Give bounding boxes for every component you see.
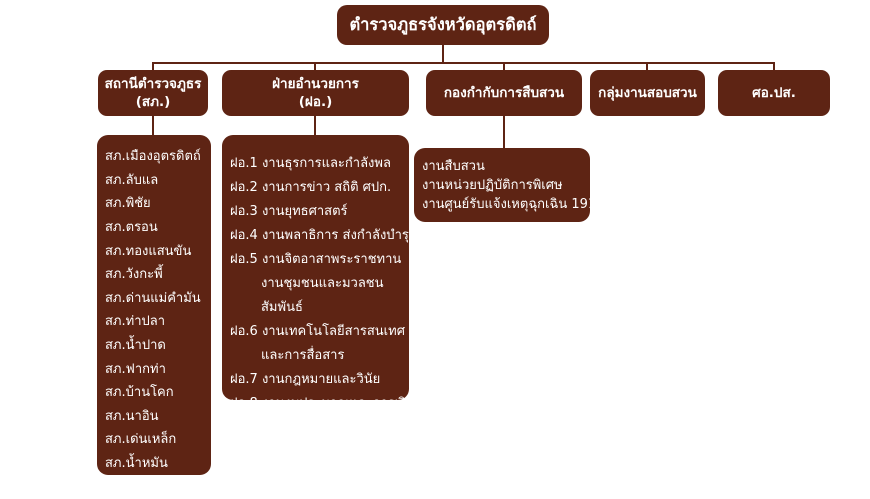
org-chart: ตำรวจภูธรจังหวัดอุตรดิตถ์ สถานีตำรวจภูธร… [0,0,870,489]
fao-work-label: งานชุมชนและมวลชน [261,277,384,290]
panel-administration-works-list: ฝอ.1 งานธุรการและกำลังพล ฝอ.2 งานการข่าว… [222,135,409,400]
station-label: สภ.ท่าปลา [105,315,165,328]
node-administration-division[interactable]: ฝ่ายอำนวยการ (ฝอ.) [222,70,409,116]
list-item[interactable]: สภ.พญาแมน [105,475,211,499]
station-label: สภ.บ้านโคก [105,386,174,399]
list-item[interactable]: สภ.ท่าปลา [105,310,211,334]
fao-work-label: ฝอ.7 งานกฎหมายและวินัย [230,373,380,386]
connector-sapho-to-stations [152,116,154,136]
list-item[interactable]: สภ.เด่นเหล็ก [105,428,211,452]
fao-work-label: ฝอ.2 งานการข่าว สถิติ ศปก. [230,181,391,194]
list-item[interactable]: สภ.ด่านแม่คำมัน [105,287,211,311]
list-item[interactable]: สภ.น้ำปาด [105,334,211,358]
list-item[interactable]: ฝอ.7 งานกฎหมายและวินัย [230,367,409,391]
fao-work-label: ฝอ.8 งานงบประมาณและการเงิน [230,397,414,410]
station-label: สภ.ลับแล [105,174,158,187]
node-root-organization[interactable]: ตำรวจภูธรจังหวัดอุตรดิตถ์ [337,5,549,45]
list-item[interactable]: ฝอ.2 งานการข่าว สถิติ ศปก. [230,175,409,199]
investigation-work-label: งานสืบสวน [422,160,485,173]
station-label: สภ.น้ำปาด [105,339,166,352]
node-sapho-label-line2: (สภ.) [136,94,171,111]
list-item-continuation: สัมพันธ์ [230,295,409,319]
list-item[interactable]: สภ.พิชัย [105,192,211,216]
fao-work-label: ฝอ.1 งานธุรการและกำลังพล [230,157,391,170]
station-label: สภ.ฟากท่า [105,363,166,376]
station-label: สภ.พิชัย [105,197,151,210]
connector-investigation-to-works [503,116,505,149]
list-item[interactable]: ฝอ.8 งานงบประมาณและการเงิน [230,391,409,415]
node-fao-label-line2: (ฝอ.) [299,94,333,111]
node-sapho-label-line1: สถานีตำรวจภูธร [105,76,202,93]
node-narcotics-center[interactable]: ศอ.ปส. [718,70,830,116]
station-label: สภ.วังกะพี้ [105,268,163,281]
station-label: สภ.เด่นเหล็ก [105,433,176,446]
fao-work-label: ฝอ.6 งานเทคโนโลยีสารสนเทศ [230,325,405,338]
list-item[interactable]: ฝอ.5 งานจิตอาสาพระราชทาน [230,247,409,271]
fao-work-label: ฝอ.4 งานพลาธิการ ส่งกำลังบำรุง [230,229,415,242]
node-inquiry-label: กลุ่มงานสอบสวน [598,85,697,102]
station-label: สภ.ทองแสนขัน [105,245,191,258]
station-label: สภ.ตรอน [105,221,158,234]
station-label: สภ.พญาแมน [105,481,178,494]
list-item[interactable]: สภ.เมืองอุตรดิตถ์ [105,145,211,169]
list-item[interactable]: ฝอ.6 งานเทคโนโลยีสารสนเทศ [230,319,409,343]
list-item-continuation: และการสื่อสาร [230,343,409,367]
station-label: สภ.นาอิน [105,410,159,423]
list-item[interactable]: งานสืบสวน [422,157,590,176]
node-sopopso-label: ศอ.ปส. [752,85,796,102]
list-item[interactable]: ฝอ.4 งานพลาธิการ ส่งกำลังบำรุง [230,223,409,247]
list-item[interactable]: งานศูนย์รับแจ้งเหตุฉุกเฉิน 191 [422,195,590,214]
node-police-stations-division[interactable]: สถานีตำรวจภูธร (สภ.) [98,70,208,116]
list-item[interactable]: สภ.นาอิน [105,405,211,429]
fao-work-label: ฝอ.3 งานยุทธศาสตร์ [230,205,348,218]
connector-horizontal-bus [152,62,775,64]
station-label: สภ.น้ำหมัน [105,457,168,470]
node-inquiry-group[interactable]: กลุ่มงานสอบสวน [590,70,705,116]
connector-root-stem [442,45,444,63]
list-item[interactable]: สภ.วังกะพี้ [105,263,211,287]
fao-work-label: สัมพันธ์ [261,301,303,314]
station-label: สภ.ด่านแม่คำมัน [105,292,201,305]
list-item[interactable]: งานหน่วยปฏิบัติการพิเศษ [422,176,590,195]
list-item[interactable]: สภ.บ้านโคก [105,381,211,405]
list-item[interactable]: ฝอ.3 งานยุทธศาสตร์ [230,199,409,223]
node-root-label: ตำรวจภูธรจังหวัดอุตรดิตถ์ [349,15,536,36]
connector-fao-to-works [314,116,316,136]
investigation-work-label: งานศูนย์รับแจ้งเหตุฉุกเฉิน 191 [422,198,596,211]
fao-work-label: และการสื่อสาร [261,349,344,362]
list-item[interactable]: สภ.ตรอน [105,216,211,240]
panel-police-stations-list: สภ.เมืองอุตรดิตถ์ สภ.ลับแล สภ.พิชัย สภ.ต… [97,135,211,475]
list-item[interactable]: สภ.ทองแสนขัน [105,239,211,263]
fao-work-label: ฝอ.5 งานจิตอาสาพระราชทาน [230,253,401,266]
list-item[interactable]: สภ.น้ำหมัน [105,452,211,476]
list-item[interactable]: ฝอ.1 งานธุรการและกำลังพล [230,151,409,175]
list-item-continuation: งานชุมชนและมวลชน [230,271,409,295]
node-fao-label-line1: ฝ่ายอำนวยการ [272,76,359,93]
node-invdiv-label: กองกำกับการสืบสวน [444,85,564,102]
list-item[interactable]: สภ.ลับแล [105,169,211,193]
node-investigation-division[interactable]: กองกำกับการสืบสวน [426,70,582,116]
panel-investigation-works-list: งานสืบสวน งานหน่วยปฏิบัติการพิเศษ งานศูน… [414,148,590,222]
list-item[interactable]: สภ.ฟากท่า [105,357,211,381]
investigation-work-label: งานหน่วยปฏิบัติการพิเศษ [422,179,563,192]
station-label: สภ.เมืองอุตรดิตถ์ [105,150,201,163]
